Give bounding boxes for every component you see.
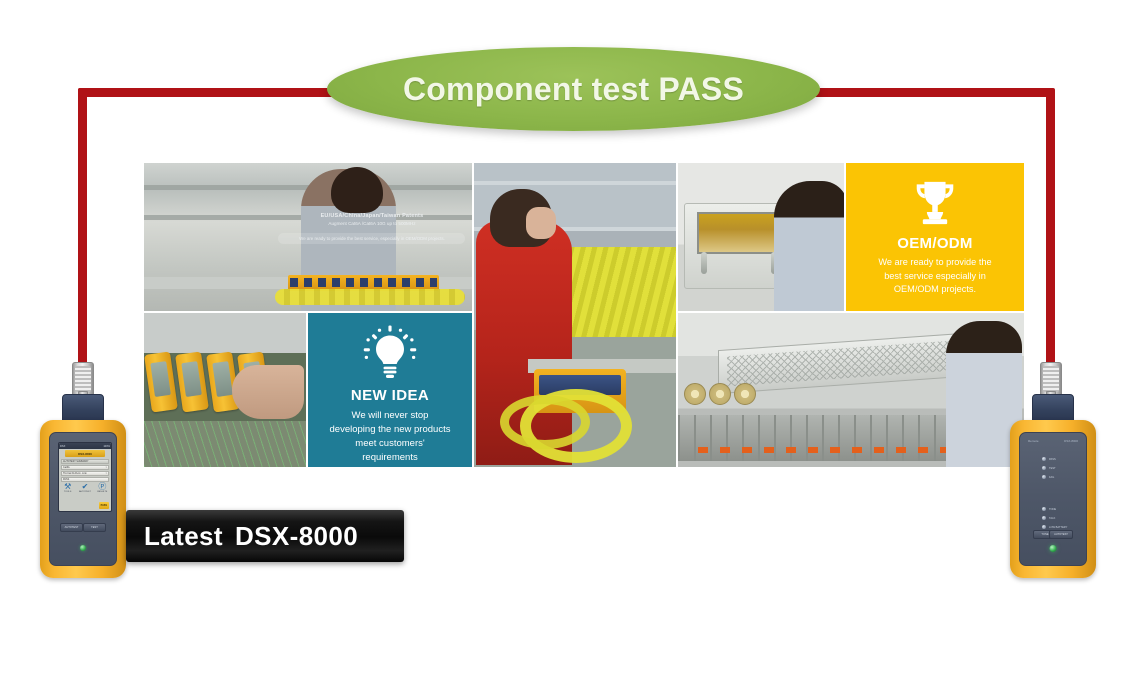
led-label: TEST: [1049, 467, 1056, 470]
label-text: LatestDSX-8000: [126, 521, 358, 552]
button-label: AUTOTEST: [65, 526, 79, 529]
worker-hair: [331, 167, 383, 213]
lcd-row-value: >: [106, 472, 107, 475]
led-row: TEST: [1042, 466, 1088, 470]
lcd-row: TIA Cat 6A Perm. Link >: [61, 471, 109, 476]
coiled-yellow-cable: [500, 395, 590, 449]
led-row: TONE: [1042, 507, 1088, 511]
handheld-tester: [175, 351, 209, 412]
status-led: [1042, 475, 1046, 479]
tester-top-connector: [62, 394, 104, 422]
worker-face: [526, 207, 556, 239]
status-led: [1042, 525, 1046, 529]
tester-faceplate: Remote DSX-8000 PASS TEST FAIL: [1019, 432, 1087, 566]
lcd-status-bar: DSX 100%: [59, 443, 111, 449]
lcd-icon-bar[interactable]: ⚒ TOOLS ✔ AUTOTEST Ⓟ RESULTS: [59, 482, 111, 498]
panel-oem-odm: OEM/ODM We are ready to provide the best…: [846, 163, 1024, 311]
tape-reels: [684, 383, 756, 405]
autotest-button[interactable]: AUTOTEST: [1049, 530, 1073, 539]
lcd-autotest-button[interactable]: ✔ AUTOTEST: [78, 482, 92, 493]
yellow-patch-cords: [275, 289, 465, 305]
panel-title: OEM/ODM: [897, 235, 972, 252]
operator-hand: [232, 365, 304, 419]
caption-line-3: We are ready to provide the best service…: [278, 233, 465, 244]
lcd-row-value: >: [106, 466, 107, 469]
tester-faceplate: DSX 100% DSX-8000 AUTOTEST SUMMARY Cat6A…: [49, 432, 117, 566]
led-row: LOW BATTERY: [1042, 525, 1088, 529]
handheld-tester: [144, 351, 178, 412]
lab-technician: [774, 181, 844, 311]
body-line-3: meet customers': [330, 437, 451, 451]
photo-production-machine: [678, 313, 1024, 467]
plug-boot: [1043, 366, 1059, 392]
machine-rails: [678, 415, 964, 461]
orange-components: [698, 447, 954, 453]
icon-caption: TOOLS: [61, 491, 75, 493]
chamber-handle: [701, 252, 707, 274]
photo-cable-testing: [474, 163, 676, 467]
power-led: [80, 545, 86, 551]
button-label: TEST: [91, 526, 98, 529]
machine-mesh-guard: [727, 340, 969, 387]
results-p-icon: Ⓟ: [95, 482, 109, 491]
led-row: PASS: [1042, 457, 1088, 461]
tape-reel: [684, 383, 706, 405]
lcd-row: AUTOTEST SUMMARY: [61, 459, 109, 464]
cable-segment-right: [1046, 88, 1055, 366]
remote-header-left: Remote: [1028, 439, 1039, 443]
label-model: DSX-8000: [223, 521, 358, 551]
lcd-title-bar: DSX-8000: [65, 450, 105, 457]
caption-line-2: Augment Cat6A /Cat6A 10G up to 500MHz: [278, 221, 465, 226]
led-label: TONE: [1049, 508, 1056, 511]
tester-top-connector: [1032, 394, 1074, 422]
patents-overlay-caption: EU/USA/China/Japan/Taiwan Patents Augmen…: [278, 213, 465, 244]
led-label: TALK: [1049, 517, 1055, 520]
body-line-1: We are ready to provide the: [878, 256, 991, 270]
remote-header: Remote DSX-8000: [1028, 439, 1078, 443]
lcd-tools-button[interactable]: ⚒ TOOLS: [61, 482, 75, 493]
photo-tester-bench: [144, 313, 306, 467]
lcd-row-label: AUTOTEST SUMMARY: [63, 460, 89, 463]
latest-product-label: LatestDSX-8000: [126, 510, 404, 562]
lcd-title-text: DSX-8000: [78, 452, 92, 456]
icon-caption: AUTOTEST: [78, 491, 92, 493]
power-led: [1050, 545, 1057, 552]
photo-assembly-line: EU/USA/China/Japan/Taiwan Patents Augmen…: [144, 163, 472, 311]
cable-segment-left: [78, 88, 87, 366]
main-tester[interactable]: DSX 100% DSX-8000 AUTOTEST SUMMARY Cat6A…: [40, 420, 126, 578]
led-label: LOW BATTERY: [1049, 526, 1067, 529]
overhead-rack: [474, 181, 676, 185]
lcd-row-label: PASS: [63, 478, 69, 481]
icon-caption: RESULTS: [95, 491, 109, 493]
remote-tester[interactable]: Remote DSX-8000 PASS TEST FAIL: [1010, 420, 1096, 578]
led-label: FAIL: [1049, 476, 1054, 479]
lcd-row-label: Cat6A: [63, 466, 70, 469]
machine-hood: [718, 332, 978, 394]
trophy-icon: [908, 177, 962, 229]
lcd-results-button[interactable]: Ⓟ RESULTS: [95, 482, 109, 493]
component-test-pass-banner: Component test PASS: [327, 47, 820, 131]
status-led-group-1: PASS TEST FAIL: [1042, 457, 1088, 484]
body-line-2: best service especially in: [878, 270, 991, 284]
led-label: PASS: [1049, 458, 1056, 461]
body-line-1: We will never stop: [330, 409, 451, 423]
lightbulb-icon: [362, 325, 418, 381]
status-led: [1042, 457, 1046, 461]
label-prefix: Latest: [144, 521, 223, 551]
lcd-status-left: DSX: [60, 445, 65, 448]
led-row: TALK: [1042, 516, 1088, 520]
check-icon: ✔: [78, 482, 92, 491]
status-led: [1042, 507, 1046, 511]
lcd-row-label: TIA Cat 6A Perm. Link: [63, 472, 87, 475]
caption-line-1: EU/USA/China/Japan/Taiwan Patents: [278, 213, 465, 219]
status-led: [1042, 466, 1046, 470]
lcd-status-right: 100%: [103, 445, 110, 448]
panel-body: We are ready to provide the best service…: [878, 256, 991, 297]
remote-header-right: DSX-8000: [1064, 439, 1078, 443]
photo-lab-testing: [678, 163, 844, 311]
autotest-button[interactable]: AUTOTEST: [60, 523, 83, 532]
panel-title: NEW IDEA: [351, 387, 429, 404]
tape-reel: [709, 383, 731, 405]
chamber-window: [697, 212, 785, 254]
slide-canvas: Component test PASS EU/USA/China/Japan/T…: [0, 0, 1134, 680]
lcd-row: Cat6A >: [61, 465, 109, 470]
status-led: [1042, 516, 1046, 520]
body-line-3: OEM/ODM projects.: [878, 283, 991, 297]
button-label: AUTOTEST: [1054, 533, 1068, 536]
panel-body: We will never stop developing the new pr…: [324, 409, 457, 465]
photo-collage: EU/USA/China/Japan/Taiwan Patents Augmen…: [144, 163, 1016, 465]
body-line-2: developing the new products: [330, 423, 451, 437]
test-button[interactable]: TEST: [83, 523, 106, 532]
tape-reel: [734, 383, 756, 405]
button-label: TONE: [1041, 533, 1048, 536]
cable-strands: [144, 421, 306, 467]
banner-text: Component test PASS: [403, 71, 744, 108]
tools-icon: ⚒: [61, 482, 75, 491]
panel-new-idea: NEW IDEA We will never stop developing t…: [308, 313, 472, 467]
tester-keypad[interactable]: AUTOTEST TEST: [56, 501, 110, 559]
body-line-4: requirements: [330, 451, 451, 465]
led-row: FAIL: [1042, 475, 1088, 479]
plug-boot: [75, 366, 91, 392]
